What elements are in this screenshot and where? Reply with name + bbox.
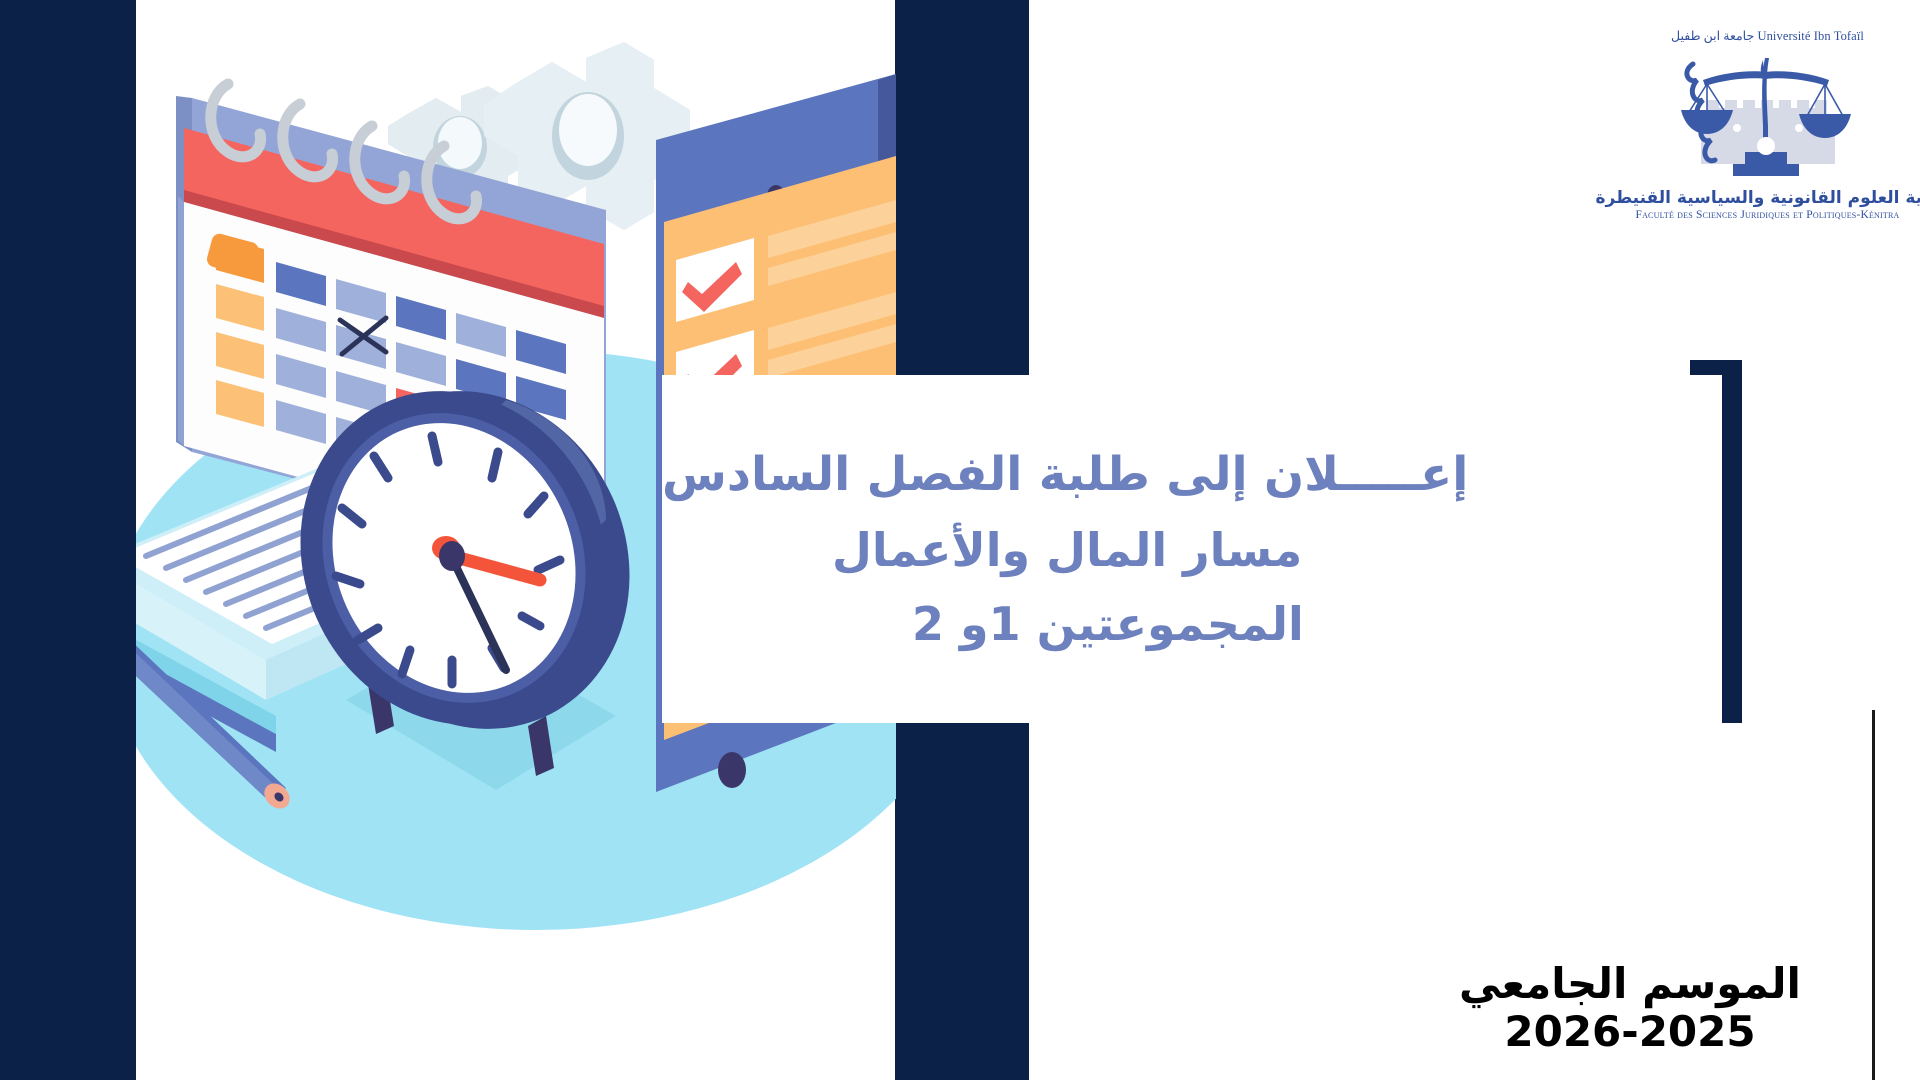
university-logo: Université Ibn Tofaïl جامعة ابن طفيل xyxy=(1645,10,1890,240)
logo-faculty-name-french: Faculté des Sciences Juridiques et Polit… xyxy=(1635,209,1899,221)
decor-vertical-rule xyxy=(1872,710,1875,1080)
season-years: 2026-2025 xyxy=(1420,1008,1840,1056)
academic-season: الموسم الجامعي 2026-2025 xyxy=(1420,960,1840,1057)
announcement-card: إعـــــلان إلى طلبة الفصل السادس مسار ال… xyxy=(662,375,1722,723)
decor-bar-left xyxy=(0,0,136,1080)
poster-canvas: إعـــــلان إلى طلبة الفصل السادس مسار ال… xyxy=(0,0,1920,1080)
announcement-line-1: إعـــــلان إلى طلبة الفصل السادس xyxy=(662,443,1468,506)
announcement-line-3: المجموعتين 1و 2 xyxy=(662,593,1304,655)
logo-faculty-name-arabic: كلية العلوم القانونية والسياسية القنيطرة xyxy=(1596,188,1920,208)
scales-of-justice-icon xyxy=(1663,46,1873,186)
announcement-line-2: مسار المال والأعمال xyxy=(662,519,1302,581)
season-label: الموسم الجامعي xyxy=(1420,960,1840,1008)
logo-university-name: Université Ibn Tofaïl جامعة ابن طفيل xyxy=(1671,28,1864,44)
